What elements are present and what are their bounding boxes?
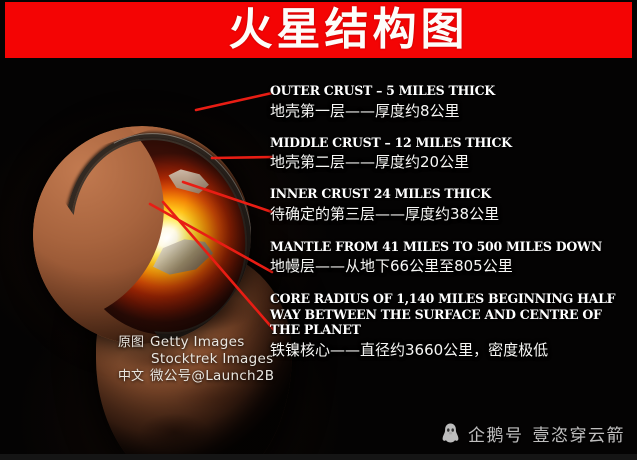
label-core-en: CORE RADIUS OF 1,140 MILES BEGINNING HAL… [270,292,618,339]
credits-block: 原图 Getty Images Stocktrek Images 中文 微公号@… [118,334,288,385]
label-middle-crust: MIDDLE CRUST – 12 MILES THICK 地壳第二层——厚度约… [270,136,636,174]
credit-translator-value: 微公号@Launch2B [150,368,274,385]
screenshot-root: 火星结构图 [0,0,637,460]
credit-source-line2: Stocktrek Images [151,351,273,368]
label-column: OUTER CRUST – 5 MILES THICK 地壳第一层——厚度约8公… [270,84,636,370]
watermark: 企鹅号 壹恣穿云箭 [442,421,625,446]
credit-source-label: 原图 [118,334,144,351]
page-title: 火星结构图 [229,8,469,52]
label-outer-crust-cn: 地壳第一层——厚度约8公里 [270,101,636,122]
watermark-account: 壹恣穿云箭 [533,421,626,446]
label-outer-crust-en: OUTER CRUST – 5 MILES THICK [270,84,618,100]
penguin-icon [442,423,459,445]
watermark-platform: 企鹅号 [468,421,524,446]
label-middle-crust-cn: 地壳第二层——厚度约20公里 [270,152,636,173]
label-inner-crust-cn: 待确定的第三层——厚度约38公里 [270,204,636,225]
label-core-cn: 铁镍核心——直径约3660公里，密度极低 [270,340,636,361]
credit-translator-label: 中文 [118,368,144,385]
label-outer-crust: OUTER CRUST – 5 MILES THICK 地壳第一层——厚度约8公… [270,84,636,122]
label-middle-crust-en: MIDDLE CRUST – 12 MILES THICK [270,136,618,152]
credit-source-row2: Stocktrek Images [118,351,288,368]
bottom-strip [0,454,637,460]
label-mantle-en: MANTLE FROM 41 MILES TO 500 MILES DOWN [270,240,618,256]
credit-translator-row: 中文 微公号@Launch2B [118,368,288,385]
label-inner-crust-en: INNER CRUST 24 MILES THICK [270,187,618,203]
label-core: CORE RADIUS OF 1,140 MILES BEGINNING HAL… [270,292,636,361]
mars-cutaway-sphere [33,126,251,344]
credit-source-line1: Getty Images [150,334,245,351]
credit-source-row: 原图 Getty Images [118,334,288,351]
title-banner: 火星结构图 [5,2,632,58]
label-mantle-cn: 地幔层——从地下66公里至805公里 [270,256,636,277]
label-mantle: MANTLE FROM 41 MILES TO 500 MILES DOWN 地… [270,240,636,278]
mars-terminator-shading [33,126,251,344]
label-inner-crust: INNER CRUST 24 MILES THICK 待确定的第三层——厚度约3… [270,187,636,225]
